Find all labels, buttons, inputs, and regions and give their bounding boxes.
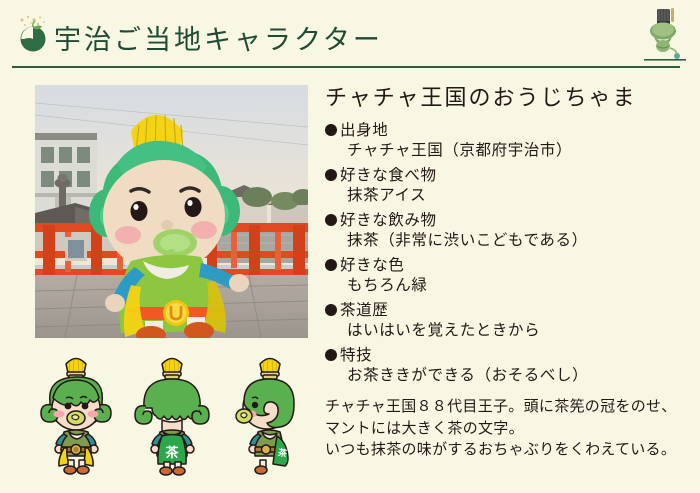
bullet-icon (325, 124, 337, 136)
character-illustration-lineup: 茶 (26, 350, 316, 480)
uji-tea-leaf-logo-icon (14, 14, 54, 54)
header-divider (12, 66, 680, 68)
fact-special-skill-label: 特技 (325, 346, 695, 366)
mascot-photo (35, 85, 308, 338)
character-front-view (28, 350, 124, 480)
fact-special-skill: 特技 お茶ききができる（おそるべし） (325, 346, 695, 387)
tea-whisk-mascot-icon (644, 6, 686, 62)
fact-tea-ceremony-history-label: 茶道歴 (325, 301, 695, 321)
fact-favorite-color-label-text: 好きな色 (340, 257, 404, 274)
fact-birthplace-value: チャチャ王国（京都府宇治市） (325, 141, 695, 161)
fact-special-skill-value: お茶ききができる（おそるべし） (325, 366, 695, 386)
bullet-icon (325, 259, 337, 271)
character-description: チャチャ王国８８代目王子。頭に茶筅の冠をのせ、 マントには大きく茶の文字。 いつ… (325, 396, 695, 460)
character-name-heading: チャチャ王国のおうじちゃま (325, 80, 695, 112)
fact-favorite-food-label-text: 好きな食べ物 (340, 167, 437, 184)
bullet-icon (325, 214, 337, 226)
page-title: 宇治ご当地キャラクター (54, 18, 383, 57)
fact-favorite-food: 好きな食べ物 抹茶アイス (325, 166, 695, 207)
fact-tea-ceremony-history: 茶道歴 はいはいを覚えたときから (325, 301, 695, 342)
bullet-icon (325, 169, 337, 181)
fact-favorite-color-label: 好きな色 (325, 256, 695, 276)
fact-tea-ceremony-history-label-text: 茶道歴 (340, 302, 388, 319)
fact-birthplace-label-text: 出身地 (340, 122, 388, 139)
bullet-icon (325, 349, 337, 361)
fact-favorite-color: 好きな色 もちろん緑 (325, 256, 695, 297)
fact-birthplace: 出身地 チャチャ王国（京都府宇治市） (325, 121, 695, 162)
fact-birthplace-label: 出身地 (325, 121, 695, 141)
character-back-view: 茶 (124, 350, 220, 480)
fact-tea-ceremony-history-value: はいはいを覚えたときから (325, 321, 695, 341)
character-info-panel: チャチャ王国のおうじちゃま 出身地 チャチャ王国（京都府宇治市） 好きな食べ物 … (325, 80, 695, 460)
character-side-view: 茶 (220, 350, 316, 480)
fact-favorite-drink: 好きな飲み物 抹茶（非常に渋いこどもである） (325, 211, 695, 252)
fact-favorite-drink-label-text: 好きな飲み物 (340, 212, 437, 229)
page-header: 宇治ご当地キャラクター (0, 0, 700, 72)
fact-favorite-food-value: 抹茶アイス (325, 186, 695, 206)
fact-favorite-drink-value: 抹茶（非常に渋いこどもである） (325, 231, 695, 251)
fact-favorite-drink-label: 好きな飲み物 (325, 211, 695, 231)
description-line-3: いつも抹茶の味がするおちゃぶりをくわえている。 (325, 439, 695, 460)
fact-special-skill-label-text: 特技 (340, 347, 372, 364)
description-line-2: マントには大きく茶の文字。 (325, 418, 695, 439)
bullet-icon (325, 304, 337, 316)
cape-kanji-back: 茶 (164, 445, 179, 461)
fact-favorite-food-label: 好きな食べ物 (325, 166, 695, 186)
description-line-1: チャチャ王国８８代目王子。頭に茶筅の冠をのせ、 (325, 396, 695, 417)
fact-favorite-color-value: もちろん緑 (325, 276, 695, 296)
